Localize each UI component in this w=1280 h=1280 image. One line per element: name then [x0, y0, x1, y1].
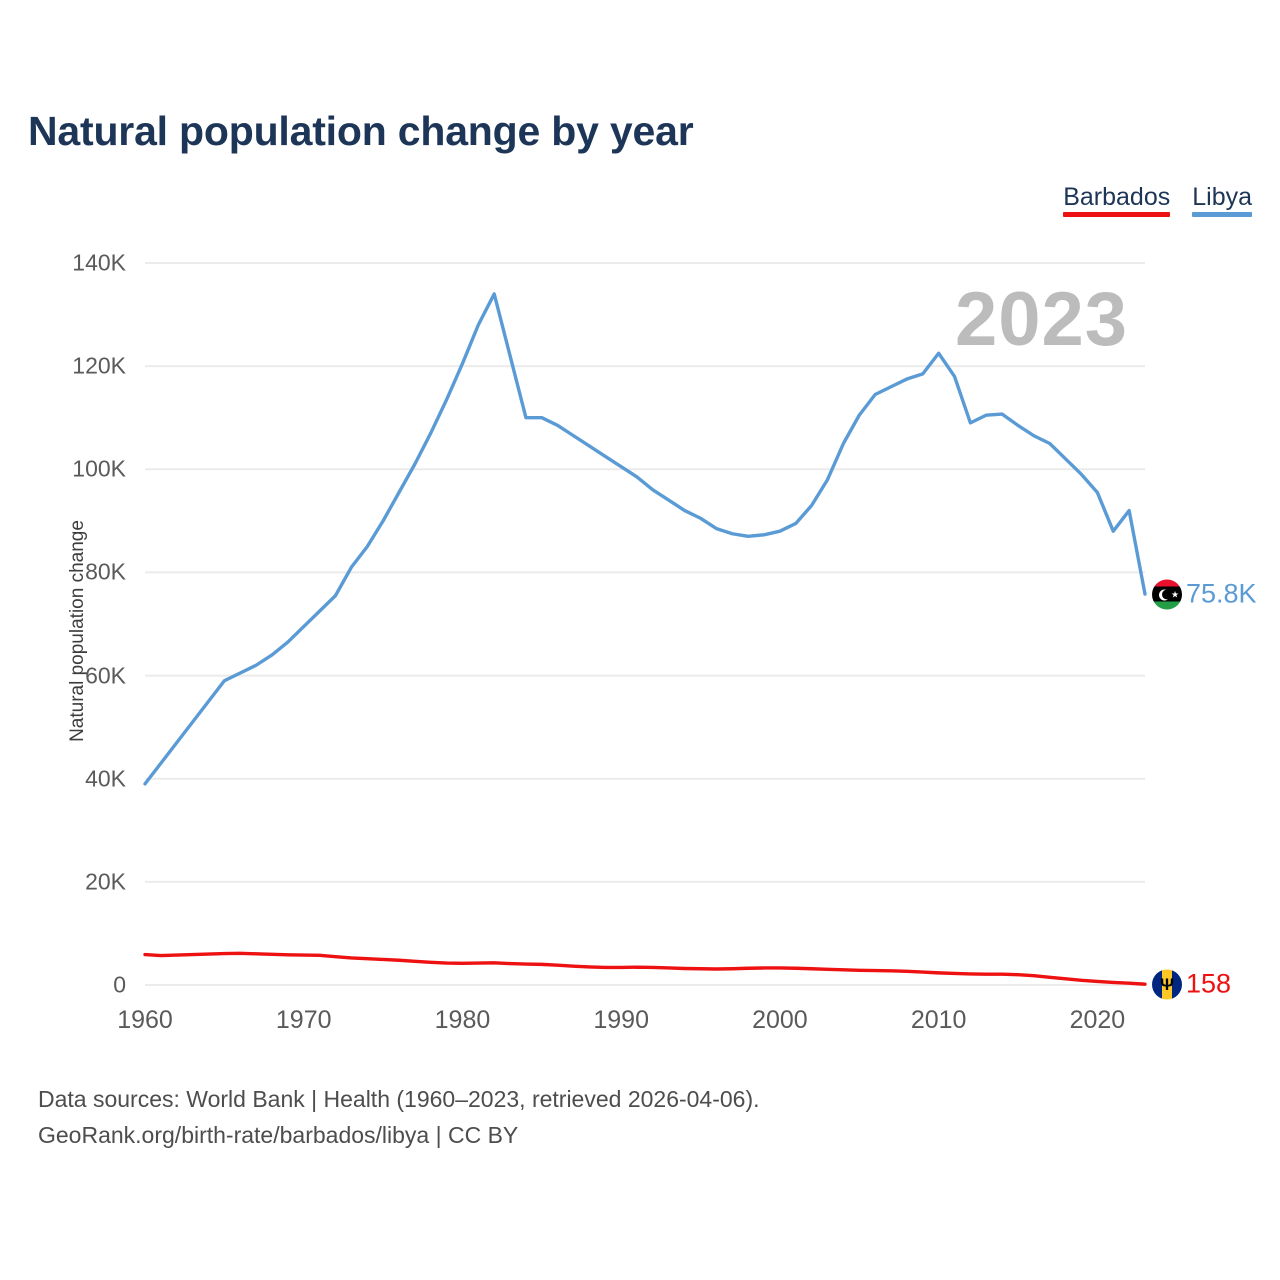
gridlines: [145, 263, 1145, 985]
y-tick-label: 80K: [6, 559, 136, 586]
x-tick-label: 1990: [593, 1006, 649, 1035]
endpoint-value-barbados: 158: [1186, 969, 1231, 1000]
y-tick-label: 140K: [6, 250, 136, 277]
series-lines: [145, 294, 1145, 984]
endpoint-value-libya: 75.8K: [1186, 579, 1257, 610]
libya-flag-icon: ★: [1152, 579, 1182, 609]
series-line-barbados: [145, 953, 1145, 984]
x-tick-label: 2010: [911, 1006, 967, 1035]
endpoint-label-libya: ★ 75.8K: [1152, 579, 1257, 610]
y-tick-label: 0: [6, 972, 136, 999]
x-tick-label: 1960: [117, 1006, 173, 1035]
series-line-libya: [145, 294, 1145, 784]
footer-line-attribution: GeoRank.org/birth-rate/barbados/libya | …: [38, 1118, 760, 1154]
x-tick-label: 1970: [276, 1006, 332, 1035]
footer-line-sources: Data sources: World Bank | Health (1960–…: [38, 1082, 760, 1118]
x-tick-label: 2000: [752, 1006, 808, 1035]
barbados-flag-icon: Ψ: [1152, 969, 1182, 999]
y-tick-label: 20K: [6, 868, 136, 895]
y-tick-label: 100K: [6, 456, 136, 483]
x-tick-label: 2020: [1070, 1006, 1126, 1035]
y-tick-label: 60K: [6, 662, 136, 689]
chart-page: Natural population change by year Barbad…: [0, 0, 1280, 1280]
x-tick-label: 1980: [435, 1006, 491, 1035]
y-tick-label: 120K: [6, 353, 136, 380]
endpoint-label-barbados: Ψ 158: [1152, 969, 1231, 1000]
y-tick-label: 40K: [6, 765, 136, 792]
footer: Data sources: World Bank | Health (1960–…: [38, 1082, 760, 1153]
